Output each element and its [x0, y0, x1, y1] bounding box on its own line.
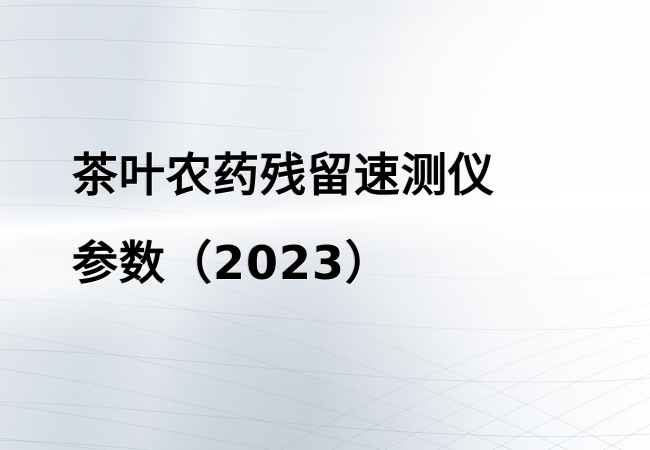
page-title: 茶叶农药残留速测仪 参数（2023）	[72, 131, 592, 307]
title-line-2: 参数（2023）	[72, 219, 592, 307]
title-line-1: 茶叶农药残留速测仪	[72, 131, 592, 219]
poster-canvas: 茶叶农药残留速测仪 参数（2023）	[0, 0, 650, 450]
